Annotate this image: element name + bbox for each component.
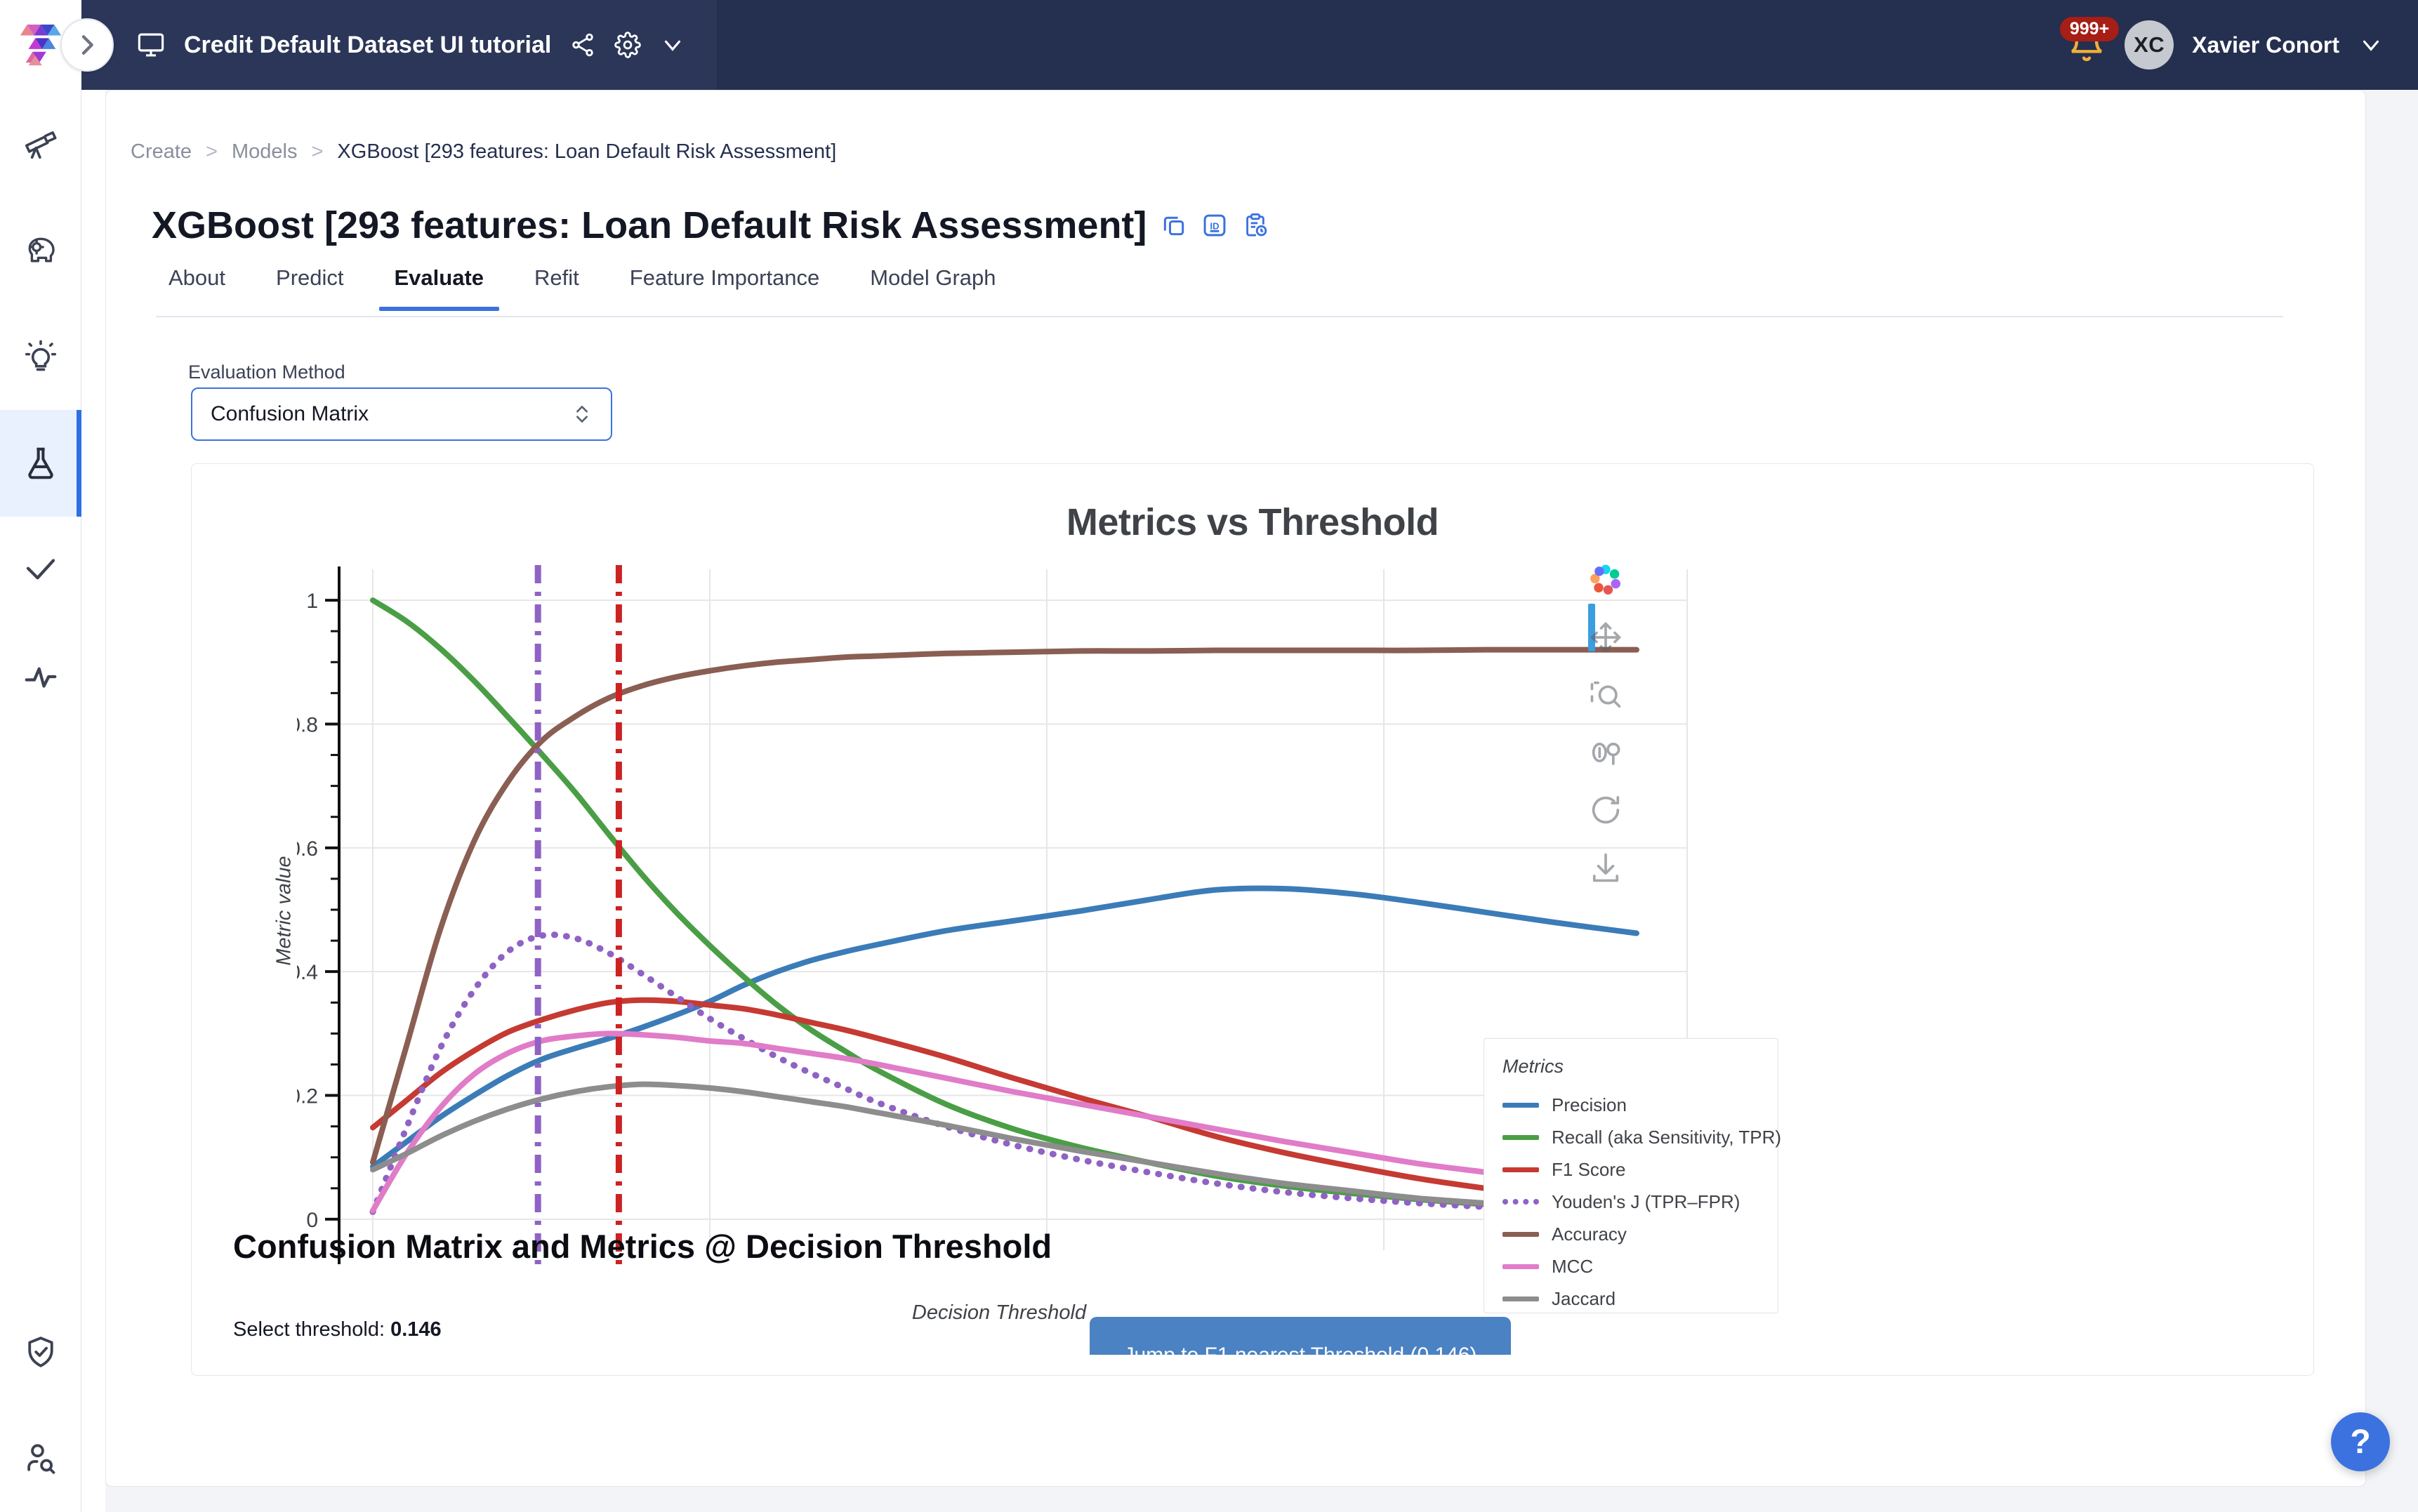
avatar[interactable]: XC: [2125, 20, 2174, 69]
sidebar-item-user-search[interactable]: [0, 1405, 81, 1512]
user-search-icon: [22, 1440, 60, 1478]
chevron-down-icon[interactable]: [659, 32, 686, 58]
svg-text:1: 1: [306, 590, 318, 613]
evaluation-method-label: Evaluation Method: [188, 362, 345, 383]
svg-text:ID: ID: [1210, 220, 1220, 231]
legend-item-f1[interactable]: F1 Score: [1502, 1153, 1759, 1186]
telescope-icon: [22, 124, 60, 162]
sidebar-item-monitoring[interactable]: [0, 623, 81, 730]
legend-label-accuracy: Accuracy: [1552, 1223, 1627, 1245]
jump-to-f1-threshold-button[interactable]: Jump to F1 nearest Threshold (0.146): [1090, 1317, 1511, 1355]
help-button[interactable]: ?: [2331, 1412, 2390, 1471]
legend-swatch-mcc: [1502, 1264, 1539, 1269]
evaluation-method-select[interactable]: Confusion Matrix: [191, 387, 612, 441]
lasso-select-icon[interactable]: [1587, 734, 1624, 771]
svg-text:0.4: 0.4: [297, 961, 318, 984]
breadcrumb-separator: >: [311, 140, 323, 164]
legend-item-youden[interactable]: Youden's J (TPR–FPR): [1502, 1186, 1759, 1218]
jump-button-label: Jump to F1 nearest Threshold (0.146): [1123, 1344, 1476, 1355]
legend-item-mcc[interactable]: MCC: [1502, 1250, 1759, 1282]
brain-gear-icon: [22, 231, 60, 269]
top-bar: Credit Default Dataset UI tutorial 999+ …: [0, 0, 2418, 90]
breadcrumb-item-current: XGBoost [293 features: Loan Default Risk…: [337, 140, 836, 164]
left-nav-rail: [0, 90, 81, 1512]
legend-item-accuracy[interactable]: Accuracy: [1502, 1218, 1759, 1250]
legend-label-youden: Youden's J (TPR–FPR): [1552, 1191, 1740, 1213]
check-icon: [22, 551, 60, 589]
notification-badge: 999+: [2060, 17, 2119, 41]
svg-text:0.8: 0.8: [297, 713, 318, 736]
chart-title: Metrics vs Threshold: [192, 500, 2313, 544]
question-mark-icon: ?: [2350, 1423, 2370, 1461]
plotly-logo-icon[interactable]: [1587, 562, 1624, 598]
legend-swatch-youden: [1502, 1199, 1539, 1205]
user-name: Xavier Conort: [2192, 32, 2339, 58]
chart-modebar: [1581, 562, 1630, 886]
share-icon[interactable]: [569, 32, 596, 58]
sidebar-item-experiments[interactable]: [0, 410, 81, 517]
gear-icon[interactable]: [614, 32, 641, 58]
tab-refit[interactable]: Refit: [509, 265, 604, 309]
brand-logo-icon: [19, 23, 62, 67]
page-title: XGBoost [293 features: Loan Default Risk…: [152, 204, 1147, 247]
pan-icon[interactable]: [1587, 619, 1624, 656]
reset-axes-icon[interactable]: [1587, 792, 1624, 828]
project-chip[interactable]: Credit Default Dataset UI tutorial: [81, 0, 717, 90]
legend-swatch-precision: [1502, 1103, 1539, 1108]
legend-swatch-f1: [1502, 1167, 1539, 1172]
page-title-row: XGBoost [293 features: Loan Default Risk…: [152, 204, 1269, 247]
clipboard-clock-icon[interactable]: [1242, 212, 1269, 239]
lightbulb-icon: [22, 338, 60, 376]
legend-label-precision: Precision: [1552, 1094, 1627, 1116]
legend-item-recall[interactable]: Recall (aka Sensitivity, TPR): [1502, 1121, 1759, 1153]
chevron-updown-icon: [572, 402, 593, 426]
legend-title: Metrics: [1502, 1056, 1759, 1077]
shield-check-icon: [22, 1333, 60, 1371]
pulse-icon: [22, 658, 60, 696]
sidebar-item-brain-gear[interactable]: [0, 197, 81, 303]
download-icon[interactable]: [1587, 849, 1624, 886]
breadcrumb: Create > Models > XGBoost [293 features:…: [131, 140, 836, 164]
tab-predict[interactable]: Predict: [251, 265, 369, 309]
legend-swatch-jaccard: [1502, 1297, 1539, 1301]
legend-swatch-recall: [1502, 1135, 1539, 1140]
tab-evaluate[interactable]: Evaluate: [369, 265, 510, 309]
y-axis-title: Metric value: [273, 856, 296, 965]
topbar-right-group: 999+ XC Xavier Conort: [2067, 20, 2418, 69]
sidebar-collapse-toggle[interactable]: [60, 18, 114, 72]
id-icon[interactable]: ID: [1201, 212, 1228, 239]
sidebar-item-approvals[interactable]: [0, 517, 81, 623]
monitor-icon: [136, 30, 166, 60]
legend-item-precision[interactable]: Precision: [1502, 1089, 1759, 1121]
legend-swatch-accuracy: [1502, 1232, 1539, 1237]
confusion-matrix-section-title: Confusion Matrix and Metrics @ Decision …: [233, 1227, 1052, 1266]
breadcrumb-item-models[interactable]: Models: [232, 140, 298, 164]
evaluation-method-value: Confusion Matrix: [211, 402, 572, 426]
notifications-button[interactable]: 999+: [2067, 25, 2106, 65]
select-threshold-text: Select threshold: 0.146: [233, 1318, 442, 1341]
sidebar-item-telescope[interactable]: [0, 90, 81, 197]
model-tabs: About Predict Evaluate Refit Feature Imp…: [156, 265, 2283, 317]
legend-label-f1: F1 Score: [1552, 1159, 1626, 1181]
sidebar-item-governance[interactable]: [0, 1299, 81, 1405]
tab-model-graph[interactable]: Model Graph: [845, 265, 1021, 309]
zoom-select-icon[interactable]: [1587, 677, 1624, 713]
user-menu-chevron-down-icon[interactable]: [2358, 32, 2384, 58]
tab-about[interactable]: About: [156, 265, 251, 309]
legend-label-mcc: MCC: [1552, 1256, 1593, 1278]
chart-legend: Metrics Precision Recall (aka Sensitivit…: [1484, 1038, 1778, 1313]
breadcrumb-separator: >: [206, 140, 218, 164]
breadcrumb-item-create[interactable]: Create: [131, 140, 192, 164]
chevron-right-icon: [73, 31, 101, 59]
flask-icon: [22, 444, 60, 482]
copy-icon[interactable]: [1161, 212, 1187, 239]
svg-text:0.6: 0.6: [297, 837, 318, 861]
sidebar-item-lightbulb[interactable]: [0, 303, 81, 410]
legend-label-jaccard: Jaccard: [1552, 1288, 1616, 1310]
tab-feature-importance[interactable]: Feature Importance: [604, 265, 845, 309]
svg-text:0.2: 0.2: [297, 1085, 318, 1108]
select-threshold-value: 0.146: [390, 1318, 442, 1341]
select-threshold-label: Select threshold:: [233, 1318, 385, 1341]
legend-label-recall: Recall (aka Sensitivity, TPR): [1552, 1127, 1781, 1148]
project-name: Credit Default Dataset UI tutorial: [184, 32, 551, 59]
legend-item-jaccard[interactable]: Jaccard: [1502, 1282, 1759, 1315]
